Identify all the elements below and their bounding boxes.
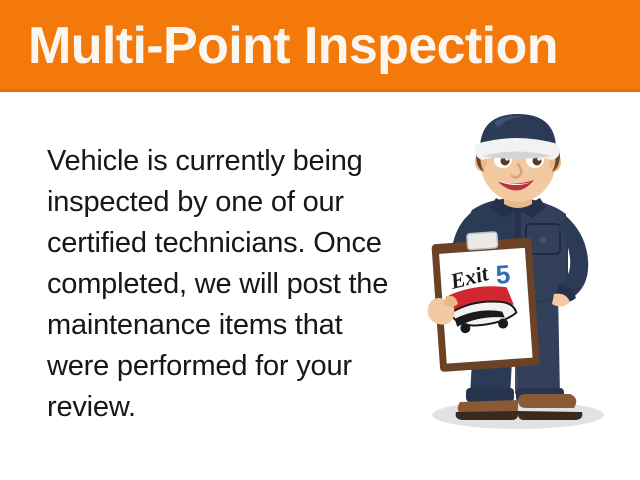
body-paragraph: Vehicle is currently being inspected by … (47, 141, 397, 428)
header-banner: Multi-Point Inspection (0, 0, 640, 92)
page-title: Multi-Point Inspection (28, 6, 628, 86)
right-shoe-sole (518, 411, 582, 420)
right-shoe (518, 394, 576, 408)
mechanic-illustration: Exit 5 (398, 112, 640, 432)
left-cuff (466, 388, 514, 402)
clipboard-clip (467, 232, 498, 250)
pocket-button (540, 237, 547, 244)
left-shoe-sole (456, 411, 518, 420)
slide-canvas: Multi-Point Inspection Vehicle is curren… (0, 0, 640, 480)
logo-number-five: 5 (495, 259, 512, 290)
